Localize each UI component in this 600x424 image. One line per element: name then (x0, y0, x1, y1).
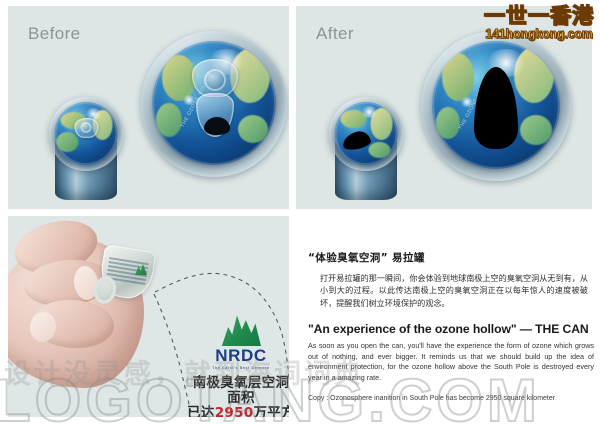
panel-before-label: Before (28, 24, 81, 44)
nrdc-leaf-icon (221, 312, 261, 346)
watermark-hongkong: 一世一香港 141hongkong.com (484, 6, 594, 41)
lid-specular-highlight (361, 106, 379, 118)
continent-shape (520, 115, 552, 145)
headline-prefix: 已达 (187, 405, 215, 418)
can-lid-globe (335, 102, 398, 165)
chinese-body: 打开易拉罐的那一瞬间，你会体验到地球南极上空的臭氧空洞从无到有，从小到大的过程。… (320, 272, 588, 309)
ozone-hole-shape (341, 129, 372, 151)
watermark-hk-url: 141hongkong.com (484, 28, 594, 41)
nrdc-logo-block: NRDC The Earth's Best Defense 南极臭氧层空洞面积 … (186, 312, 289, 417)
continent-shape (162, 55, 196, 101)
continent-shape (238, 115, 268, 143)
ozone-hole-shape (204, 117, 230, 135)
headline-number: 2950 (215, 405, 254, 418)
continent-shape (442, 53, 474, 101)
chinese-title: “体验臭氧空洞” 易拉罐 (308, 250, 596, 265)
panel-photo: NRDC The Earth's Best Defense 南极臭氧层空洞面积 … (8, 216, 289, 417)
can-lid-globe (55, 102, 118, 165)
continent-shape (57, 132, 79, 152)
after-large-lid: THE OZONE HOLLOW (420, 30, 572, 182)
ozone-hole-shape (474, 67, 518, 149)
english-copy-line: Copy : Ozonosphere inanition in South Po… (308, 395, 596, 402)
nrdc-headline-line2: 已达2950万平方公里 (186, 406, 289, 418)
before-large-lid: THE OZONE HOLLOW (140, 30, 288, 178)
poster-root: Before THE OZON (0, 0, 600, 424)
panel-after-label: After (316, 24, 354, 44)
continent-shape (369, 142, 391, 158)
panel-before: Before THE OZON (8, 6, 289, 209)
nrdc-headline: 南极臭氧层空洞面积 已达2950万平方公里 (186, 376, 289, 418)
pull-tab-ring (204, 69, 226, 91)
watermark-hk-chinese: 一世一香港 (484, 6, 594, 27)
description-column: “体验臭氧空洞” 易拉罐 打开易拉罐的那一瞬间，你会体验到地球南极上空的臭氧空洞… (308, 250, 596, 402)
continent-shape (436, 107, 460, 139)
nrdc-tagline: The Earth's Best Defense (186, 366, 289, 370)
before-small-can (46, 96, 126, 201)
continent-shape (156, 103, 182, 137)
after-small-can (326, 96, 406, 201)
english-title: "An experience of the ozone hollow" — TH… (308, 322, 596, 336)
nrdc-headline-line1: 南极臭氧层空洞面积 (186, 376, 289, 406)
pull-tab-ring (81, 122, 92, 133)
can-lid-globe: THE OZONE HOLLOW (432, 41, 560, 169)
nrdc-wordmark: NRDC (186, 347, 289, 364)
can-lid-globe: THE OZONE HOLLOW (152, 41, 276, 165)
english-body: As soon as you open the can, you'll have… (308, 341, 594, 383)
